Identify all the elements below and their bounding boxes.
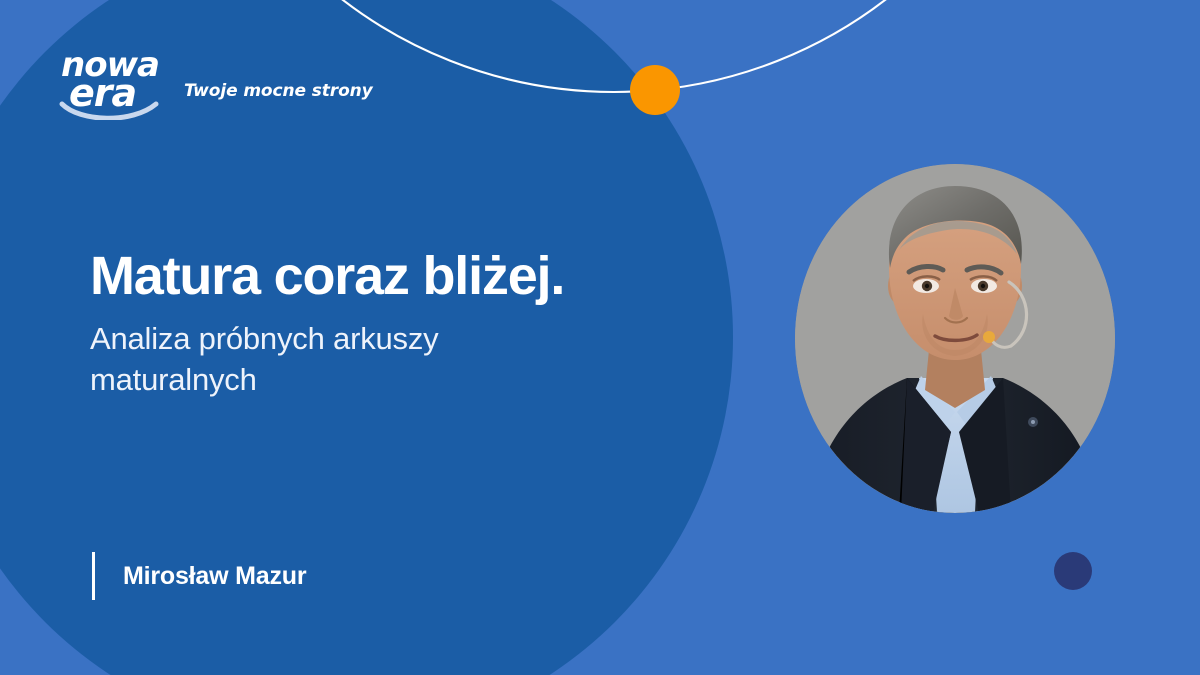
slide-title: Matura coraz bliżej. (90, 248, 710, 305)
nowa-era-logo-icon[interactable]: nowa era (58, 42, 162, 120)
speaker-name: Mirosław Mazur (123, 562, 306, 591)
speaker-accent-rule (92, 552, 95, 600)
navy-accent-dot (1054, 552, 1092, 590)
slide-subtitle: Analiza próbnych arkuszy maturalnych (90, 319, 520, 401)
brand-logo-block[interactable]: nowa era Twoje mocne strony (58, 42, 373, 120)
brand-tagline: Twoje mocne strony (184, 81, 373, 120)
presentation-slide: nowa era Twoje mocne strony Matura coraz… (0, 0, 1200, 675)
headline-block: Matura coraz bliżej. Analiza próbnych ar… (90, 248, 710, 401)
speaker-portrait-avatar (795, 164, 1115, 513)
headset-mic-capsule (983, 331, 995, 343)
nowa-era-logo-svg: nowa era (58, 42, 162, 120)
speaker-credit: Mirosław Mazur (92, 552, 306, 600)
speaker-portrait-illustration (795, 164, 1115, 513)
logo-word-era: era (69, 71, 136, 115)
orange-accent-dot (630, 65, 680, 115)
